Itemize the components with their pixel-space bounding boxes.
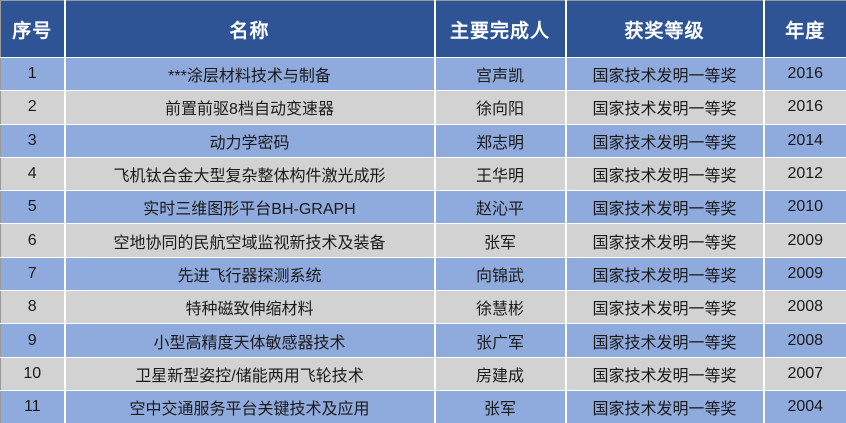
cell-index: 8 xyxy=(1,291,65,324)
table-header-row: 序号 名称 主要完成人 获奖等级 年度 xyxy=(1,1,846,58)
cell-year: 2012 xyxy=(764,157,846,190)
cell-name: 先进飞行器探测系统 xyxy=(65,257,435,290)
cell-year: 2004 xyxy=(764,390,846,423)
cell-index: 6 xyxy=(1,224,65,257)
cell-name: 卫星新型姿控/储能两用飞轮技术 xyxy=(65,357,435,390)
cell-index: 3 xyxy=(1,124,65,157)
cell-person: 赵沁平 xyxy=(435,191,566,224)
cell-name: 前置前驱8档自动变速器 xyxy=(65,91,435,124)
column-header-name: 名称 xyxy=(65,1,435,58)
cell-level: 国家技术发明一等奖 xyxy=(566,324,764,357)
cell-level: 国家技术发明一等奖 xyxy=(566,357,764,390)
cell-name: 小型高精度天体敏感器技术 xyxy=(65,324,435,357)
award-table: 序号 名称 主要完成人 获奖等级 年度 1***涂层材料技术与制备宫声凯国家技术… xyxy=(0,0,846,423)
cell-index: 1 xyxy=(1,58,65,91)
table-body: 1***涂层材料技术与制备宫声凯国家技术发明一等奖20162前置前驱8档自动变速… xyxy=(1,58,846,423)
table-row: 3动力学密码郑志明国家技术发明一等奖2014 xyxy=(1,124,846,157)
cell-year: 2009 xyxy=(764,224,846,257)
cell-year: 2010 xyxy=(764,191,846,224)
table-row: 10卫星新型姿控/储能两用飞轮技术房建成国家技术发明一等奖2007 xyxy=(1,357,846,390)
cell-level: 国家技术发明一等奖 xyxy=(566,224,764,257)
table-row: 4飞机钛合金大型复杂整体构件激光成形王华明国家技术发明一等奖2012 xyxy=(1,157,846,190)
cell-name: 特种磁致伸缩材料 xyxy=(65,291,435,324)
cell-year: 2008 xyxy=(764,291,846,324)
table-row: 8特种磁致伸缩材料徐慧彬国家技术发明一等奖2008 xyxy=(1,291,846,324)
cell-level: 国家技术发明一等奖 xyxy=(566,257,764,290)
column-header-index: 序号 xyxy=(1,1,65,58)
cell-person: 张军 xyxy=(435,224,566,257)
cell-level: 国家技术发明一等奖 xyxy=(566,291,764,324)
column-header-level: 获奖等级 xyxy=(566,1,764,58)
cell-year: 2008 xyxy=(764,324,846,357)
cell-year: 2009 xyxy=(764,257,846,290)
cell-person: 徐向阳 xyxy=(435,91,566,124)
cell-person: 郑志明 xyxy=(435,124,566,157)
cell-person: 宫声凯 xyxy=(435,58,566,91)
table-row: 6空地协同的民航空域监视新技术及装备张军国家技术发明一等奖2009 xyxy=(1,224,846,257)
cell-level: 国家技术发明一等奖 xyxy=(566,390,764,423)
cell-person: 向锦武 xyxy=(435,257,566,290)
cell-person: 张广军 xyxy=(435,324,566,357)
column-header-person: 主要完成人 xyxy=(435,1,566,58)
award-table-container: 序号 名称 主要完成人 获奖等级 年度 1***涂层材料技术与制备宫声凯国家技术… xyxy=(0,0,846,423)
table-row: 7先进飞行器探测系统向锦武国家技术发明一等奖2009 xyxy=(1,257,846,290)
cell-index: 11 xyxy=(1,390,65,423)
cell-index: 7 xyxy=(1,257,65,290)
table-row: 9小型高精度天体敏感器技术张广军国家技术发明一等奖2008 xyxy=(1,324,846,357)
cell-person: 王华明 xyxy=(435,157,566,190)
cell-year: 2016 xyxy=(764,91,846,124)
column-header-year: 年度 xyxy=(764,1,846,58)
cell-level: 国家技术发明一等奖 xyxy=(566,157,764,190)
cell-index: 10 xyxy=(1,357,65,390)
cell-person: 张军 xyxy=(435,390,566,423)
cell-level: 国家技术发明一等奖 xyxy=(566,124,764,157)
cell-name: 空中交通服务平台关键技术及应用 xyxy=(65,390,435,423)
cell-name: 动力学密码 xyxy=(65,124,435,157)
cell-person: 房建成 xyxy=(435,357,566,390)
table-row: 2前置前驱8档自动变速器徐向阳国家技术发明一等奖2016 xyxy=(1,91,846,124)
cell-year: 2007 xyxy=(764,357,846,390)
cell-level: 国家技术发明一等奖 xyxy=(566,58,764,91)
cell-level: 国家技术发明一等奖 xyxy=(566,191,764,224)
cell-year: 2014 xyxy=(764,124,846,157)
table-row: 11空中交通服务平台关键技术及应用张军国家技术发明一等奖2004 xyxy=(1,390,846,423)
cell-index: 5 xyxy=(1,191,65,224)
table-row: 5实时三维图形平台BH-GRAPH赵沁平国家技术发明一等奖2010 xyxy=(1,191,846,224)
cell-name: 空地协同的民航空域监视新技术及装备 xyxy=(65,224,435,257)
cell-year: 2016 xyxy=(764,58,846,91)
cell-level: 国家技术发明一等奖 xyxy=(566,91,764,124)
cell-index: 2 xyxy=(1,91,65,124)
cell-index: 4 xyxy=(1,157,65,190)
cell-index: 9 xyxy=(1,324,65,357)
cell-name: 飞机钛合金大型复杂整体构件激光成形 xyxy=(65,157,435,190)
cell-name: ***涂层材料技术与制备 xyxy=(65,58,435,91)
cell-person: 徐慧彬 xyxy=(435,291,566,324)
table-header: 序号 名称 主要完成人 获奖等级 年度 xyxy=(1,1,846,58)
cell-name: 实时三维图形平台BH-GRAPH xyxy=(65,191,435,224)
table-row: 1***涂层材料技术与制备宫声凯国家技术发明一等奖2016 xyxy=(1,58,846,91)
